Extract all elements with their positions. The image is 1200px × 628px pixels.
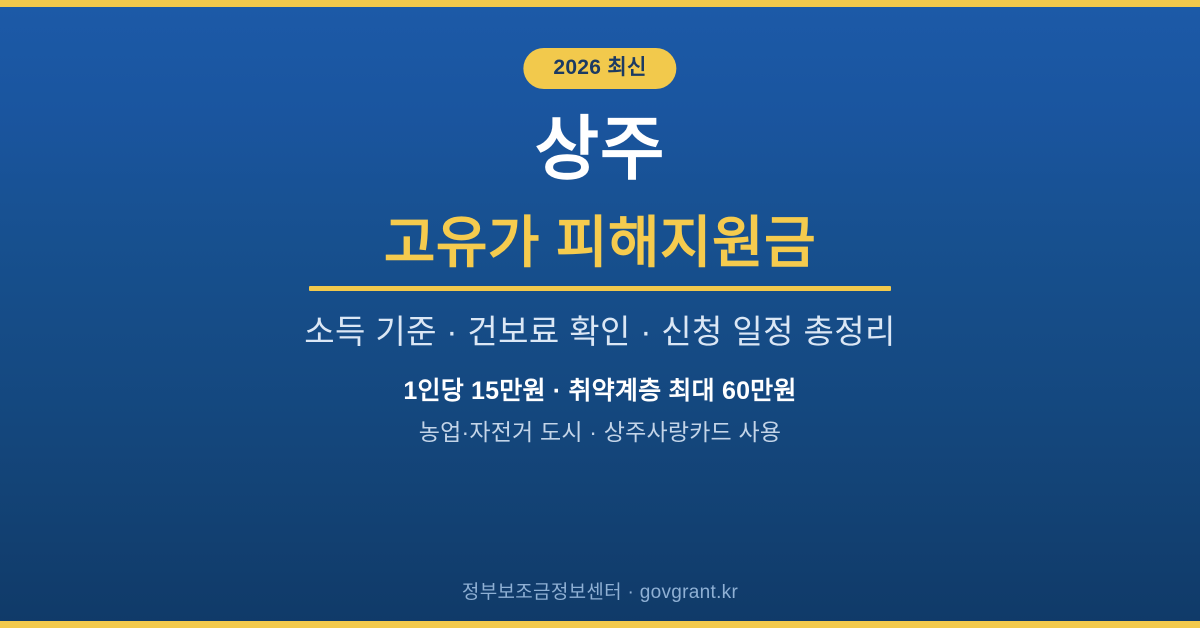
detail-features-line: 농업·자전거 도시 · 상주사랑카드 사용 — [0, 418, 1200, 448]
title-underline — [309, 286, 891, 291]
year-badge: 2026 최신 — [523, 48, 676, 89]
detail-amount-line: 1인당 15만원 · 취약계층 최대 60만원 — [0, 375, 1200, 408]
footer-source: 정부보조금정보센터 · govgrant.kr — [0, 577, 1200, 604]
title-program: 고유가 피해지원금 — [0, 213, 1200, 273]
top-accent-bar — [0, 0, 1200, 7]
promo-card: 2026 최신 상주 고유가 피해지원금 소득 기준 · 건보료 확인 · 신청… — [0, 0, 1200, 628]
title-city: 상주 — [0, 112, 1200, 188]
subtitle-line: 소득 기준 · 건보료 확인 · 신청 일정 총정리 — [0, 311, 1200, 352]
bottom-accent-bar — [0, 621, 1200, 628]
